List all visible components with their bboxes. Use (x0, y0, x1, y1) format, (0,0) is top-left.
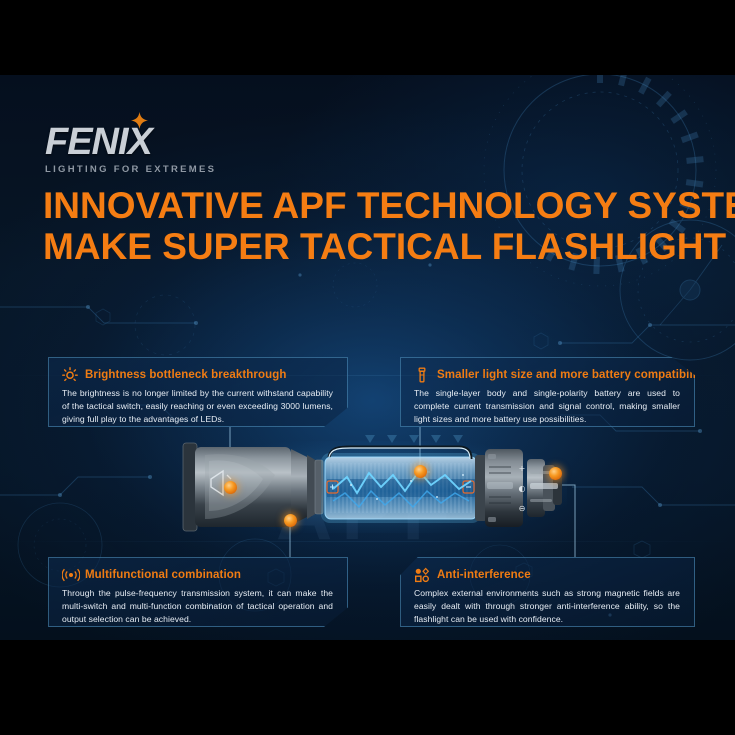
brightness-sun-icon (62, 367, 78, 383)
hotspot-head[interactable] (224, 481, 237, 494)
card-title: Brightness bottleneck breakthrough (85, 369, 286, 381)
card-header: Multifunctional combination (62, 567, 333, 583)
brand-name-text: FENIX (45, 123, 235, 161)
page-title: INNOVATIVE APF TECHNOLOGY SYSTEM MAKE SU… (43, 185, 703, 268)
hotspot-body[interactable] (414, 465, 427, 478)
flashlight-icon (414, 367, 430, 383)
card-body: The brightness is no longer limited by t… (62, 387, 333, 426)
grid-shapes-icon (414, 567, 430, 583)
flashlight-head (183, 443, 323, 531)
card-smaller-light-size-and-more-battery-compatibility[interactable]: Smaller light size and more battery comp… (400, 357, 695, 427)
signal-waves-icon (62, 567, 78, 583)
poster-root: APF FENIX LIGHTING FOR EXTREMES INNOVATI… (0, 0, 735, 735)
card-anti-interference[interactable]: Anti-interference Complex external envir… (400, 557, 695, 627)
headline-line-1: INNOVATIVE APF TECHNOLOGY SYSTEM (43, 185, 703, 226)
card-body: Complex external environments such as st… (414, 587, 680, 626)
brand-tagline: LIGHTING FOR EXTREMES (45, 164, 235, 175)
card-multifunctional-combination[interactable]: Multifunctional combination Through the … (48, 557, 348, 627)
card-body: Through the pulse-frequency transmission… (62, 587, 333, 626)
content-panel: APF FENIX LIGHTING FOR EXTREMES INNOVATI… (0, 75, 735, 640)
card-header: Brightness bottleneck breakthrough (62, 367, 333, 383)
svg-text:⊖: ⊖ (519, 504, 526, 513)
card-body: The single-layer body and single-polarit… (414, 387, 680, 426)
hotspot-tailcap[interactable] (549, 467, 562, 480)
svg-text:◐: ◐ (519, 484, 526, 493)
card-title: Anti-interference (437, 569, 531, 581)
star-icon (131, 112, 148, 129)
svg-text:+: + (519, 464, 526, 473)
fenix-logo: FENIX LIGHTING FOR EXTREMES (45, 123, 235, 175)
headline-line-2: MAKE SUPER TACTICAL FLASHLIGHT (43, 226, 703, 267)
card-brightness-bottleneck-breakthrough[interactable]: Brightness bottleneck breakthrough The b… (48, 357, 348, 427)
flashlight-body-cutaway (321, 435, 481, 523)
card-title: Smaller light size and more battery comp… (437, 369, 706, 381)
card-header: Anti-interference (414, 567, 680, 583)
hotspot-lower-body[interactable] (284, 514, 297, 527)
card-header: Smaller light size and more battery comp… (414, 367, 680, 383)
card-title: Multifunctional combination (85, 569, 241, 581)
